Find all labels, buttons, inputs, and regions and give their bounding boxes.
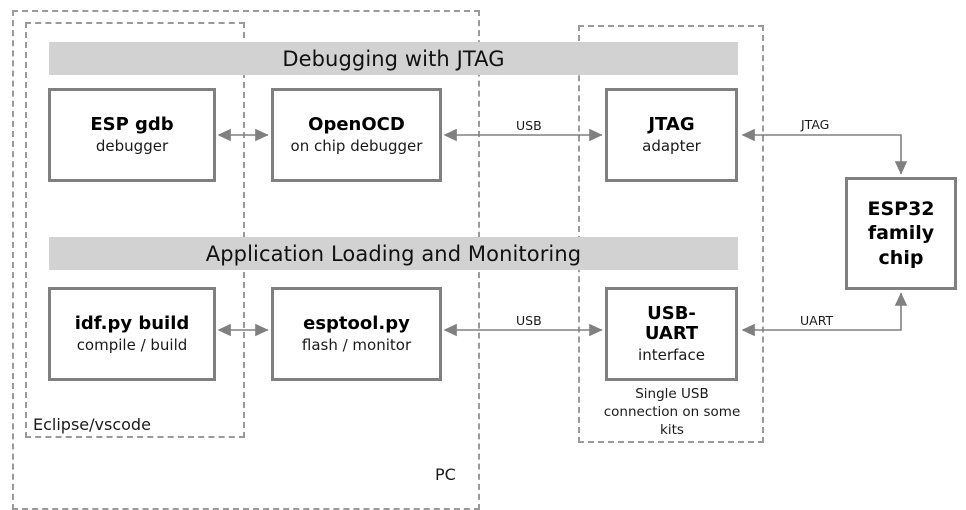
node-idf-py-build-title: idf.py build xyxy=(75,314,190,334)
node-esp-gdb-title: ESP gdb xyxy=(90,115,173,135)
node-esp32-title-line3: chip xyxy=(879,246,924,270)
node-openocd-subtitle: on chip debugger xyxy=(291,137,423,155)
node-jtag-adapter-subtitle: adapter xyxy=(642,137,701,155)
node-esptool-py[interactable]: esptool.py flash / monitor xyxy=(271,287,442,381)
node-openocd-title: OpenOCD xyxy=(308,115,405,135)
edge-label-jtag: JTAG xyxy=(801,117,829,132)
connector-layer: OpenOCD --> JTAG adapter (USB) --> ESP32… xyxy=(0,0,966,506)
node-esp-gdb[interactable]: ESP gdb debugger xyxy=(48,88,216,182)
node-idf-py-build[interactable]: idf.py build compile / build xyxy=(48,287,216,381)
edge-label-usb-debug: USB xyxy=(516,118,542,133)
node-usb-uart-title-line1: USB- xyxy=(647,304,696,324)
node-usb-uart[interactable]: USB- UART interface xyxy=(605,287,738,381)
node-usb-uart-subtitle: interface xyxy=(638,346,705,364)
diagram-canvas: PC Eclipse/vscode Debugging with JTAG Ap… xyxy=(0,0,966,506)
edge-label-usb-app: USB xyxy=(516,313,542,328)
node-esp32-title-line2: family xyxy=(868,221,934,245)
edge-label-uart: UART xyxy=(800,313,833,328)
node-esptool-py-subtitle: flash / monitor xyxy=(302,336,411,354)
node-jtag-adapter-title: JTAG xyxy=(648,115,694,135)
node-openocd[interactable]: OpenOCD on chip debugger xyxy=(271,88,442,182)
usb-uart-note-line3: kits xyxy=(596,422,748,440)
node-jtag-adapter[interactable]: JTAG adapter xyxy=(605,88,738,182)
node-idf-py-build-subtitle: compile / build xyxy=(77,336,188,354)
usb-uart-note-line1: Single USB xyxy=(596,386,748,404)
node-esptool-py-title: esptool.py xyxy=(303,314,410,334)
node-usb-uart-title-line2: UART xyxy=(645,324,698,344)
node-esp-gdb-subtitle: debugger xyxy=(96,137,168,155)
wire-jtag-esp32 xyxy=(743,135,901,174)
node-esp32-family-chip[interactable]: ESP32 family chip xyxy=(845,177,957,290)
usb-uart-note: Single USB connection on some kits xyxy=(596,386,748,439)
node-esp32-title-line1: ESP32 xyxy=(867,197,934,221)
usb-uart-note-line2: connection on some xyxy=(596,404,748,422)
